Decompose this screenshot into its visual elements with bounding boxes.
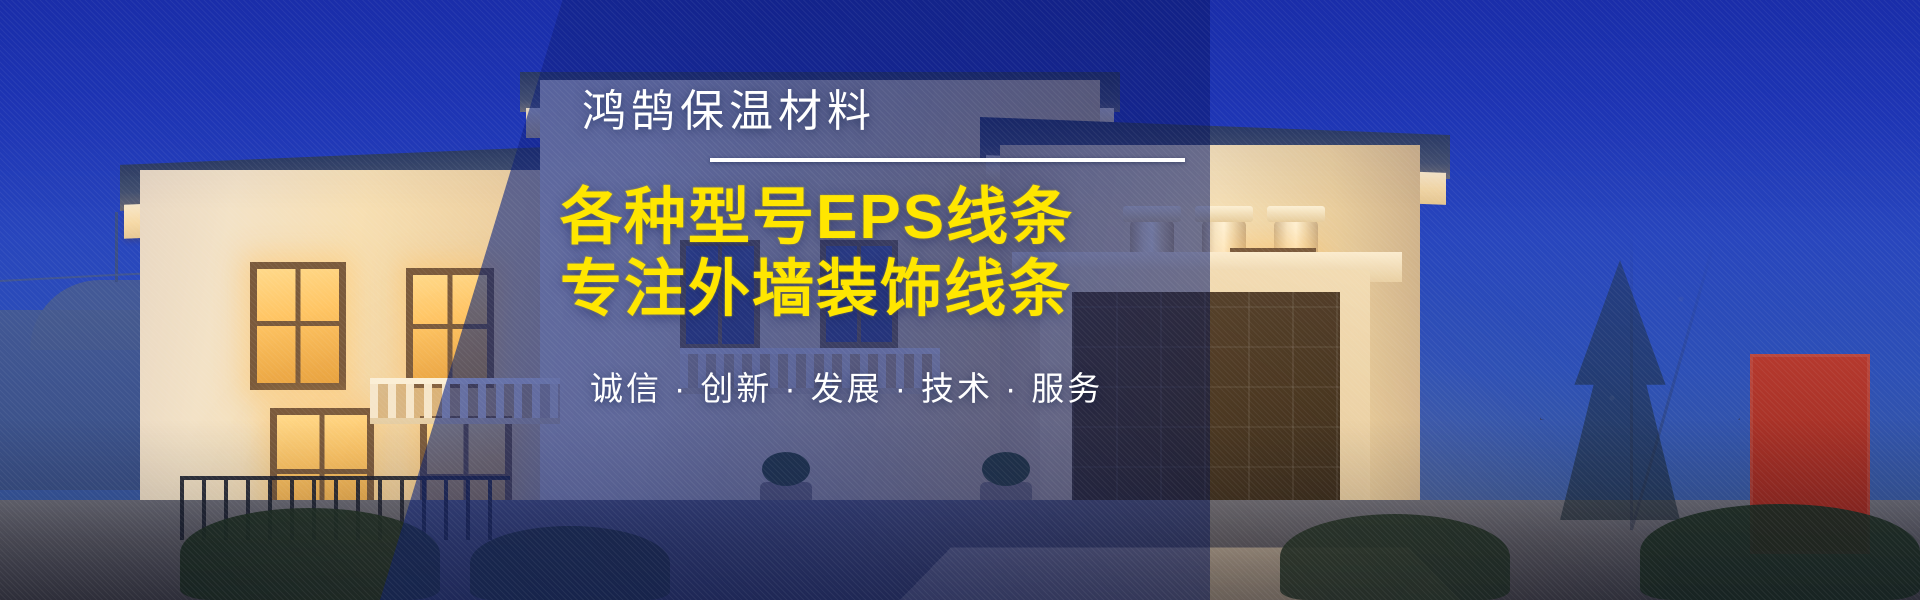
- headline: 各种型号EPS线条 专注外墙装饰线条: [560, 182, 1260, 326]
- brand-subtitle: 鸿鹄保温材料: [560, 88, 1260, 136]
- banner-copy: 鸿鹄保温材料 各种型号EPS线条 专注外墙装饰线条 诚信 · 创新 · 发展 ·…: [560, 88, 1260, 410]
- headline-line-1: 各种型号EPS线条: [560, 183, 1074, 252]
- headline-line-2: 专注外墙装饰线条: [560, 254, 1260, 326]
- promo-banner: 鸿鹄保温材料 各种型号EPS线条 专注外墙装饰线条 诚信 · 创新 · 发展 ·…: [0, 0, 1920, 600]
- divider-rule: [710, 158, 1185, 162]
- tagline: 诚信 · 创新 · 发展 · 技术 · 服务: [590, 362, 1260, 410]
